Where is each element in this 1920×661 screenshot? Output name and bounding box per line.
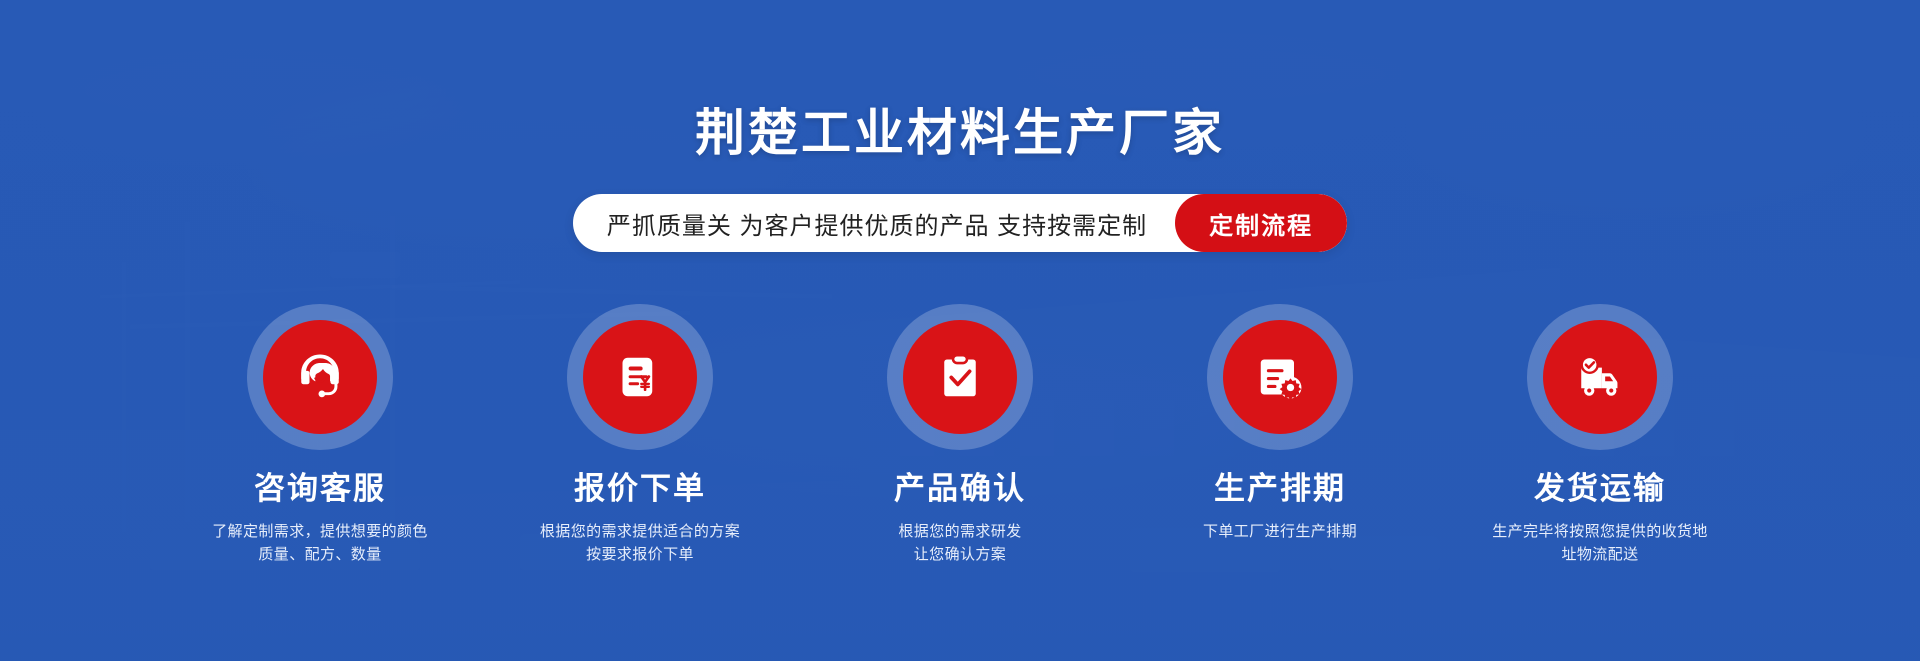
step-description-line: 按要求报价下单 <box>540 543 740 566</box>
step-description: 根据您的需求研发 让您确认方案 <box>898 520 1021 567</box>
clipboard-check-icon <box>932 349 988 405</box>
step-icon-disc <box>1223 320 1337 434</box>
step-description-line: 了解定制需求，提供想要的颜色 <box>212 520 428 543</box>
step-item-consult[interactable]: 咨询客服 了解定制需求，提供想要的颜色 质量、配方、数量 <box>160 304 480 567</box>
page-title: 荆楚工业材料生产厂家 <box>695 108 1225 158</box>
step-item-confirm[interactable]: 产品确认 根据您的需求研发 让您确认方案 <box>800 304 1120 567</box>
step-description: 了解定制需求，提供想要的颜色 质量、配方、数量 <box>212 520 428 567</box>
slogan-pill: 严抓质量关 为客户提供优质的产品 支持按需定制 定制流程 <box>573 194 1347 252</box>
step-icon-disc <box>263 320 377 434</box>
step-description-line: 根据您的需求提供适合的方案 <box>540 520 740 543</box>
step-icon-ring <box>567 304 713 450</box>
step-description-line: 址物流配送 <box>1492 543 1708 566</box>
step-icon-ring <box>247 304 393 450</box>
custom-process-button[interactable]: 定制流程 <box>1175 194 1347 252</box>
step-description-line: 下单工厂进行生产排期 <box>1203 520 1357 543</box>
promo-banner: 荆楚工业材料生产厂家 严抓质量关 为客户提供优质的产品 支持按需定制 定制流程 <box>0 0 1920 661</box>
delivery-truck-check-icon <box>1570 347 1630 407</box>
step-description-line: 让您确认方案 <box>898 543 1021 566</box>
step-description: 生产完毕将按照您提供的收货地 址物流配送 <box>1492 520 1708 567</box>
step-description: 根据您的需求提供适合的方案 按要求报价下单 <box>540 520 740 567</box>
step-icon-ring <box>887 304 1033 450</box>
step-description-line: 生产完毕将按照您提供的收货地 <box>1492 520 1708 543</box>
step-icon-disc <box>583 320 697 434</box>
step-item-schedule[interactable]: 生产排期 下单工厂进行生产排期 <box>1120 304 1440 543</box>
document-gear-icon <box>1252 349 1308 405</box>
step-title: 咨询客服 <box>254 472 386 506</box>
step-title: 生产排期 <box>1214 472 1346 506</box>
process-steps: 咨询客服 了解定制需求，提供想要的颜色 质量、配方、数量 <box>160 304 1760 567</box>
step-item-quote[interactable]: 报价下单 根据您的需求提供适合的方案 按要求报价下单 <box>480 304 800 567</box>
slogan-text: 严抓质量关 为客户提供优质的产品 支持按需定制 <box>607 206 1175 241</box>
step-title: 产品确认 <box>894 472 1026 506</box>
step-title: 报价下单 <box>574 472 706 506</box>
invoice-yuan-icon <box>612 349 668 405</box>
step-icon-ring <box>1527 304 1673 450</box>
step-icon-disc <box>1543 320 1657 434</box>
step-description-line: 质量、配方、数量 <box>212 543 428 566</box>
step-item-shipping[interactable]: 发货运输 生产完毕将按照您提供的收货地 址物流配送 <box>1440 304 1760 567</box>
step-description-line: 根据您的需求研发 <box>898 520 1021 543</box>
step-icon-ring <box>1207 304 1353 450</box>
step-description: 下单工厂进行生产排期 <box>1203 520 1357 543</box>
step-title: 发货运输 <box>1534 472 1666 506</box>
step-icon-disc <box>903 320 1017 434</box>
headset-support-icon <box>290 347 350 407</box>
banner-content: 荆楚工业材料生产厂家 严抓质量关 为客户提供优质的产品 支持按需定制 定制流程 <box>0 0 1920 661</box>
